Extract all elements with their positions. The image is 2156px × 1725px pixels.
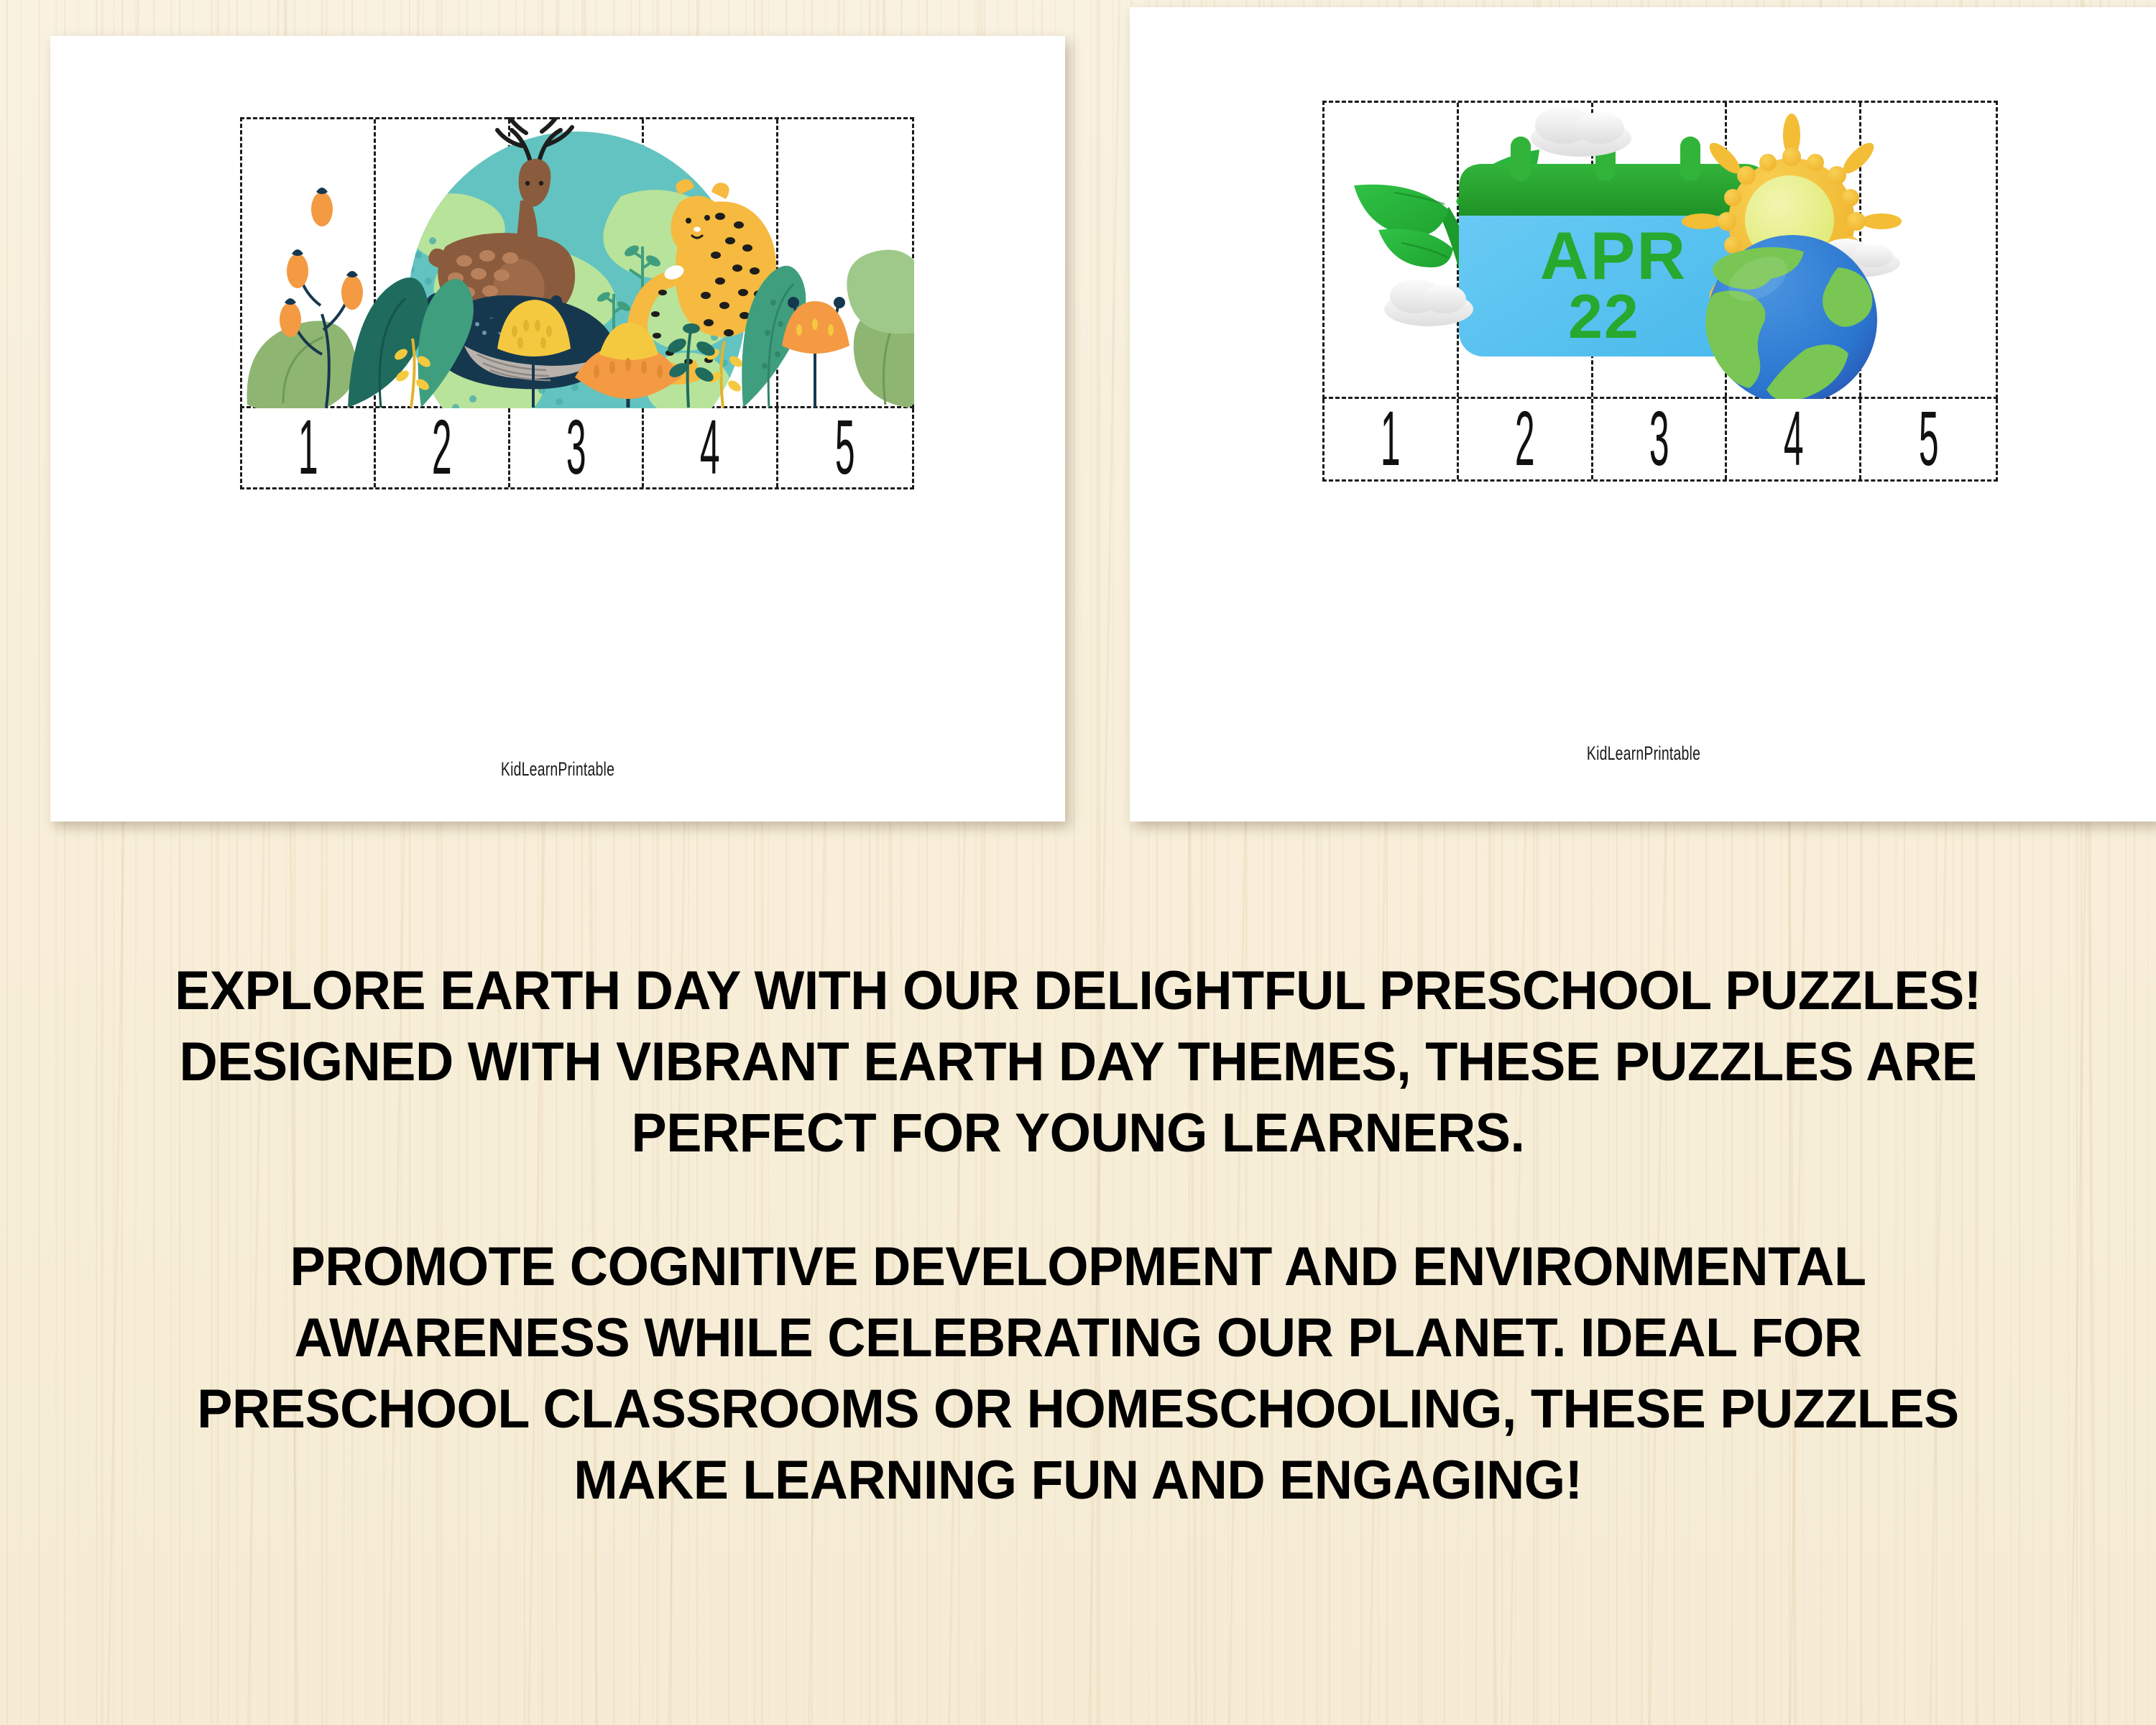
puzzle-strip-2 [376,119,510,406]
left-number-row: 1 2 3 4 5 [240,408,914,489]
watermark-right: KidLearnPrintable [1273,742,2014,765]
puzzle-strip-3 [1593,103,1728,397]
number-cell-3[interactable]: 3 [510,408,644,487]
puzzle-strip-3 [510,119,644,406]
number-label: 5 [835,409,855,487]
puzzle-strip-4 [1727,103,1861,397]
number-label: 3 [1649,400,1669,478]
right-number-row: 1 2 3 4 5 [1322,399,1998,482]
number-label: 1 [1381,400,1401,478]
promo-copy-block: EXPLORE EARTH DAY WITH OUR DELIGHTFUL PR… [0,956,2156,1517]
puzzle-strip-2 [1459,103,1593,397]
number-cell-2[interactable]: 2 [1459,399,1593,479]
number-label: 2 [1515,400,1535,478]
number-cell-4[interactable]: 4 [644,408,778,487]
number-label: 1 [298,409,318,487]
number-label: 4 [700,409,720,487]
number-label: 5 [1919,400,1939,478]
number-cell-3[interactable]: 3 [1593,399,1728,479]
number-cell-1[interactable]: 1 [1325,399,1459,479]
number-cell-1[interactable]: 1 [242,408,376,487]
watermark-left: KidLearnPrintable [193,758,923,781]
promo-paragraph-2: PROMOTE COGNITIVE DEVELOPMENT AND ENVIRO… [32,1232,2124,1516]
number-label: 3 [566,409,586,487]
number-label: 2 [432,409,452,487]
number-cell-5[interactable]: 5 [1861,399,1996,479]
left-puzzle-cut-grid [240,117,914,408]
right-puzzle-sheet[interactable]: APR 22 [1130,7,2156,822]
puzzle-strip-5 [1861,103,1996,397]
puzzle-strip-5 [778,119,912,406]
puzzle-strip-1 [1325,103,1459,397]
number-cell-5[interactable]: 5 [778,408,912,487]
number-cell-2[interactable]: 2 [376,408,510,487]
promo-paragraph-1: EXPLORE EARTH DAY WITH OUR DELIGHTFUL PR… [32,956,2124,1169]
number-cell-4[interactable]: 4 [1727,399,1861,479]
puzzle-strip-1 [242,119,376,406]
number-label: 4 [1783,400,1803,478]
puzzle-strip-4 [644,119,778,406]
right-puzzle-cut-grid [1322,101,1998,399]
left-puzzle-sheet[interactable]: 1 2 3 4 5 KidLearnPrintable [50,36,1065,822]
